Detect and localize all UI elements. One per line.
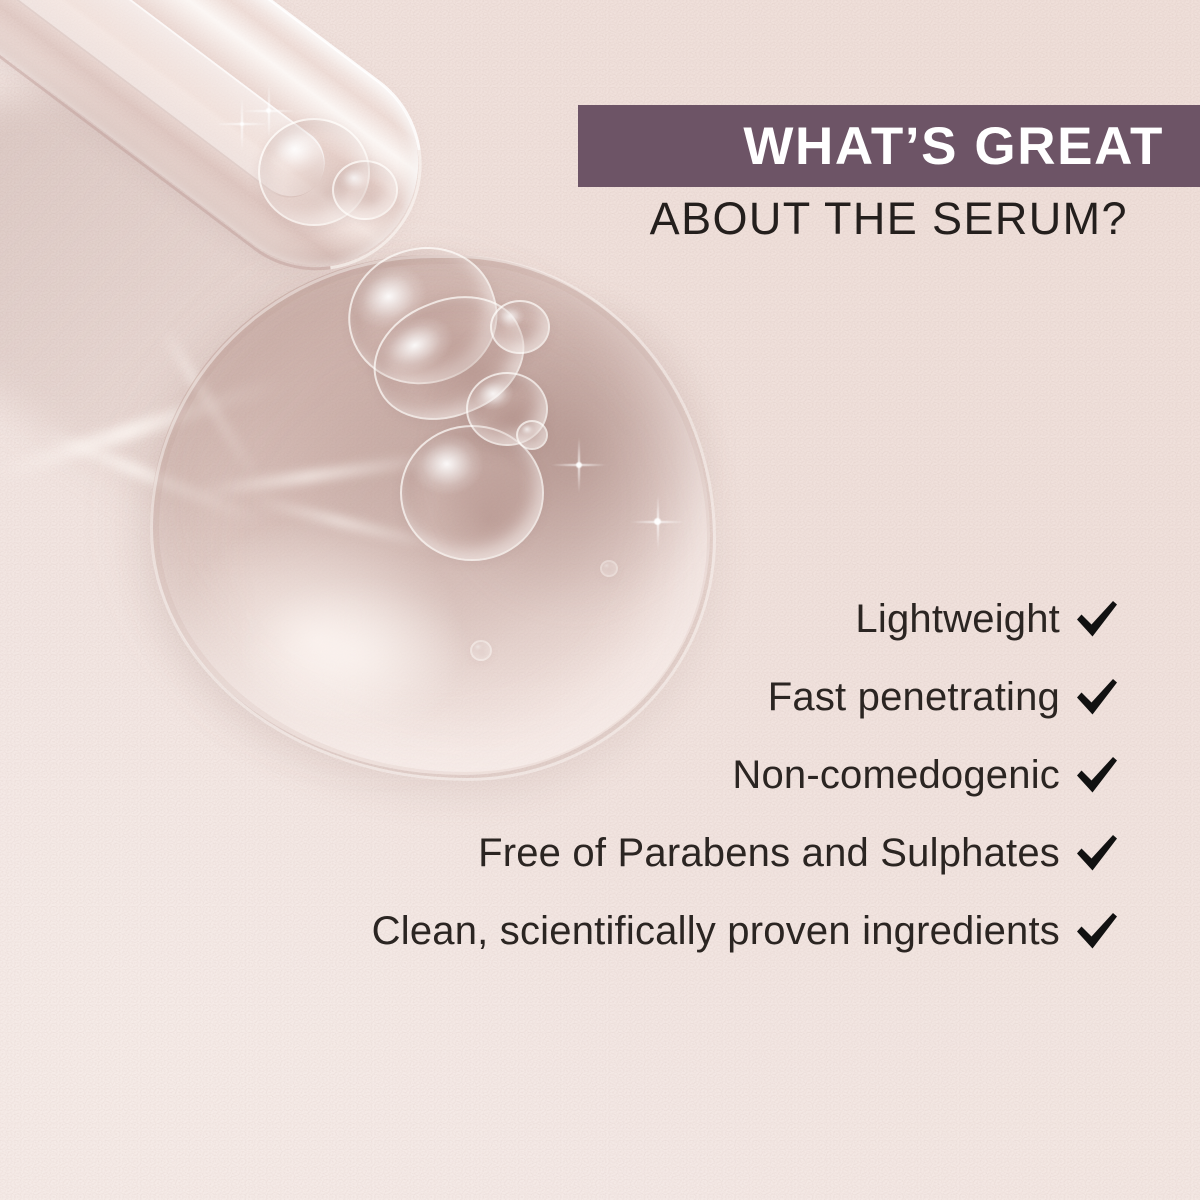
sparkle-icon (576, 462, 582, 468)
serum-bubble (600, 560, 618, 577)
benefits-list: Lightweight Fast penetrating Non-comedog… (0, 598, 1120, 952)
serum-bubble (490, 300, 550, 354)
benefit-item: Non-comedogenic (732, 754, 1120, 796)
subheadline-text: ABOUT THE SERUM? (0, 196, 1128, 241)
benefit-label: Free of Parabens and Sulphates (478, 832, 1060, 874)
benefit-item: Fast penetrating (768, 676, 1120, 718)
headline-text: WHAT’S GREAT (743, 120, 1164, 173)
check-icon (1074, 677, 1120, 717)
benefit-label: Fast penetrating (768, 676, 1060, 718)
headline-band: WHAT’S GREAT (578, 105, 1200, 187)
product-benefits-graphic: WHAT’S GREAT ABOUT THE SERUM? Lightweigh… (0, 0, 1200, 1200)
benefit-label: Lightweight (855, 598, 1060, 640)
benefit-item: Lightweight (855, 598, 1120, 640)
check-icon (1074, 833, 1120, 873)
check-icon (1074, 599, 1120, 639)
benefit-label: Non-comedogenic (732, 754, 1060, 796)
sparkle-icon (240, 122, 244, 126)
sparkle-icon (654, 518, 661, 525)
benefit-item: Clean, scientifically proven ingredients (372, 910, 1120, 952)
serum-bubble (516, 420, 548, 450)
sparkle-icon (266, 108, 271, 113)
benefit-label: Clean, scientifically proven ingredients (372, 910, 1060, 952)
check-icon (1074, 755, 1120, 795)
benefit-item: Free of Parabens and Sulphates (478, 832, 1120, 874)
check-icon (1074, 911, 1120, 951)
